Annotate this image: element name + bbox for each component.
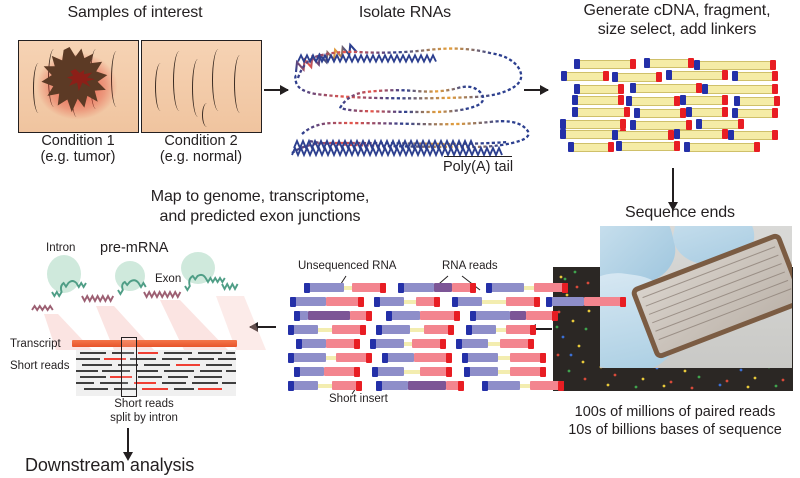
short-insert-read: [376, 381, 464, 390]
flowcell-photo: [600, 226, 792, 368]
cdna-heading-line1: Generate cDNA, fragment,: [556, 2, 798, 20]
paired-reads-pool: [288, 283, 538, 391]
transcript-label: Transcript: [10, 338, 61, 351]
short-insert-label: Short insert: [329, 393, 388, 406]
polya-tail-label: Poly(A) tail: [408, 159, 548, 175]
map-heading-line1: Map to genome, transcriptome,: [92, 188, 428, 206]
condition-1-label: Condition 1: [13, 133, 143, 149]
split-reads-label-line2: split by intron: [74, 412, 214, 425]
pre-mrna-strand: [30, 252, 270, 332]
arrow-map-to-downstream: [127, 428, 129, 452]
short-reads-pileup: [76, 350, 236, 396]
map-heading-line2: and predicted exon junctions: [92, 208, 428, 226]
split-reads-label-line1: Short reads: [74, 398, 214, 411]
cdna-heading-line2: size select, add linkers: [556, 21, 798, 39]
rna-reads-label: RNA reads: [442, 260, 498, 273]
cdna-fragment-pool: [556, 58, 800, 160]
intron-split-box: [121, 337, 137, 397]
rna-strands: [288, 38, 548, 173]
isolate-heading: Isolate RNAs: [290, 4, 520, 22]
condition-2-label: Condition 2: [136, 133, 266, 149]
condition-2-sublabel: (e.g. normal): [136, 149, 266, 165]
arrow-isolate-to-cdna: [524, 89, 548, 91]
arrow-samples-to-isolate: [264, 89, 288, 91]
samples-heading: Samples of interest: [10, 4, 260, 22]
short-reads-label: Short reads: [10, 360, 69, 373]
arrow-cdna-to-sequence: [672, 168, 674, 202]
tissue-panel-condition-2: [141, 40, 262, 133]
sequence-heading: Sequence ends: [570, 204, 790, 222]
downstream-analysis-label: Downstream analysis: [25, 455, 194, 475]
sequence-stat-line1: 100s of millions of paired reads: [554, 404, 796, 420]
transcript-bar: [72, 340, 237, 347]
unsequenced-rna-label: Unsequenced RNA: [298, 260, 396, 273]
polya-underline: [444, 156, 512, 157]
rnaseq-workflow-diagram: Samples of interest Condition 1 (e.g. tu…: [0, 0, 800, 478]
tissue-panel-condition-1: [18, 40, 139, 133]
sequence-stat-line2: 10s of billions bases of sequence: [554, 422, 796, 438]
condition-1-sublabel: (e.g. tumor): [13, 149, 143, 165]
